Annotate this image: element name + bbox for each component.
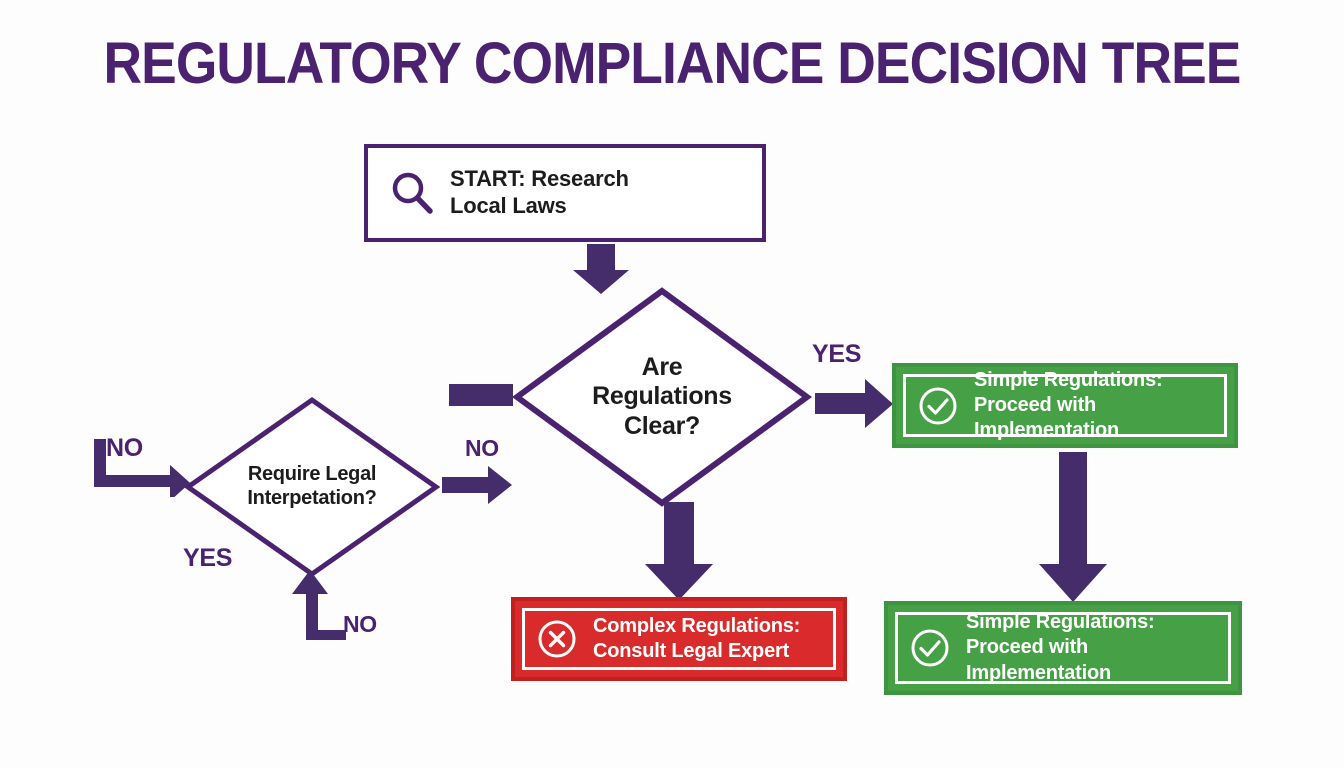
flowchart-canvas: REGULATORY COMPLIANCE DECISION TREE STAR…	[0, 0, 1344, 768]
magnifying-glass-icon	[386, 167, 438, 219]
arrow-yes-to-green-box-top	[815, 379, 895, 429]
decision-main-label: Are Regulations Clear?	[512, 286, 812, 508]
outcome-green-top-label: Simple Regulations: Proceed with Impleme…	[974, 368, 1234, 444]
edge-label-no-decision-main: NO	[465, 435, 499, 462]
outcome-node-red[interactable]: Complex Regulations: Consult Legal Exper…	[511, 597, 847, 681]
start-node-label: START: Research Local Laws	[450, 166, 629, 220]
arrow-no-decision-left-right	[442, 466, 514, 508]
decision-node-regulations-clear[interactable]: Are Regulations Clear?	[512, 286, 812, 508]
decision-main-line1: Are	[642, 353, 683, 381]
red-line1: Complex Regulations:	[593, 615, 800, 637]
decision-main-line3: Clear?	[624, 412, 700, 440]
green-top-line1: Simple Regulations:	[974, 369, 1162, 391]
connector-stub-decision-main-left	[449, 384, 513, 406]
start-node-line2: Local Laws	[450, 193, 567, 218]
check-circle-icon	[908, 626, 952, 670]
outcome-red-label: Complex Regulations: Consult Legal Exper…	[593, 614, 800, 664]
outcome-green-bottom-label: Simple Regulations: Proceed with Impleme…	[966, 610, 1238, 686]
edge-label-no-bottom: NO	[343, 611, 377, 638]
edge-label-yes: YES	[812, 340, 861, 369]
edge-label-no-far-left: NO	[106, 434, 143, 463]
check-circle-icon	[916, 384, 960, 428]
start-node-line1: START: Research	[450, 166, 629, 191]
arrow-green-top-to-green-bottom	[1035, 452, 1111, 604]
red-line2: Consult Legal Expert	[593, 640, 789, 662]
green-bottom-line2: Proceed with Implementation	[966, 636, 1111, 683]
decision-main-line2: Regulations	[592, 382, 732, 410]
green-top-line2: Proceed with Implementation	[974, 394, 1119, 441]
edge-label-yes-decision-left: YES	[183, 544, 232, 573]
arrow-decision-main-to-red-box	[639, 502, 719, 602]
decision-left-line2: Interpetation?	[247, 487, 376, 509]
page-title: REGULATORY COMPLIANCE DECISION TREE	[54, 30, 1290, 97]
start-node[interactable]: START: Research Local Laws	[364, 144, 766, 242]
outcome-node-green-top[interactable]: Simple Regulations: Proceed with Impleme…	[892, 363, 1238, 448]
decision-left-line1: Require Legal	[248, 463, 376, 485]
outcome-node-green-bottom[interactable]: Simple Regulations: Proceed with Impleme…	[884, 601, 1242, 695]
x-circle-icon	[535, 617, 579, 661]
green-bottom-line1: Simple Regulations:	[966, 611, 1154, 633]
